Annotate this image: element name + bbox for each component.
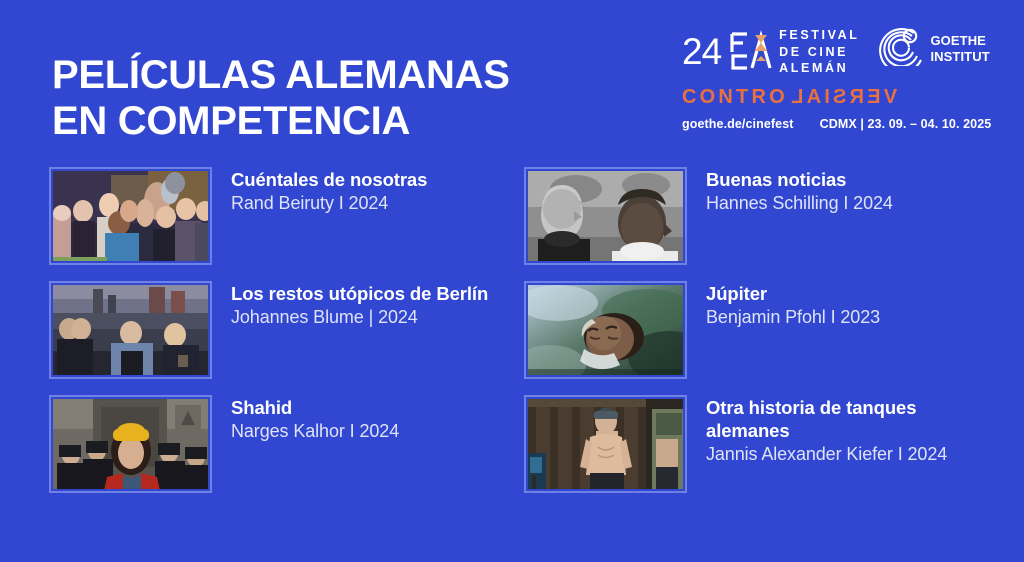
film-credit: Benjamin Pfohl I 2023 (706, 306, 880, 329)
festival-word-line-3: ALEMÁN (779, 60, 859, 77)
festival-logo: 24 FESTIVAL DE CINE (682, 26, 859, 77)
film-entry[interactable]: Buenas noticias Hannes Schilling I 2024 (523, 166, 1000, 266)
film-entry[interactable]: Shahid Narges Kalhor I 2024 (48, 394, 523, 494)
film-thumbnail (523, 394, 688, 494)
festival-wordmark: FESTIVAL DE CINE ALEMÁN (779, 26, 859, 77)
page-title-line-1: PELÍCULAS ALEMANAS (52, 52, 522, 98)
festival-edition-number: 24 (682, 33, 721, 70)
goethe-institut-logo: GOETHE INSTITUT (879, 26, 989, 71)
film-credit: Hannes Schilling I 2024 (706, 192, 893, 215)
brand-meta-row: goethe.de/cinefest CDMX | 23. 09. – 04. … (682, 117, 1002, 131)
film-title: Buenas noticias (706, 168, 893, 191)
website-link[interactable]: goethe.de/cinefest (682, 117, 794, 131)
film-meta: Otra historia de tanques alemanes Jannis… (706, 394, 1000, 467)
film-credit: Narges Kalhor I 2024 (231, 420, 399, 443)
film-meta: Cuéntales de nosotras Rand Beiruty I 202… (231, 166, 427, 216)
presentation-slide: PELÍCULAS ALEMANAS EN COMPETENCIA 24 (0, 0, 1024, 562)
film-meta: Buenas noticias Hannes Schilling I 2024 (706, 166, 893, 216)
film-meta: Shahid Narges Kalhor I 2024 (231, 394, 399, 444)
controversial-tagline: CONTRO VERSIAL (682, 86, 1002, 109)
film-credit: Jannis Alexander Kiefer I 2024 (706, 443, 1000, 466)
film-title: Otra historia de tanques alemanes (706, 396, 1000, 442)
film-title: Cuéntales de nosotras (231, 168, 427, 191)
goethe-wordmark: GOETHE INSTITUT (930, 33, 989, 64)
festival-dates: CDMX | 23. 09. – 04. 10. 2025 (820, 117, 992, 131)
goethe-spiral-icon (879, 26, 923, 71)
film-thumbnail (48, 280, 213, 380)
goethe-word-line-1: GOETHE (930, 33, 989, 48)
film-meta: Júpiter Benjamin Pfohl I 2023 (706, 280, 880, 330)
page-title: PELÍCULAS ALEMANAS EN COMPETENCIA (52, 52, 522, 145)
page-title-line-2: EN COMPETENCIA (52, 98, 522, 144)
film-title: Los restos utópicos de Berlín (231, 282, 488, 305)
film-column-left: Cuéntales de nosotras Rand Beiruty I 202… (48, 166, 523, 508)
film-entry[interactable]: Otra historia de tanques alemanes Jannis… (523, 394, 1000, 494)
film-credit: Johannes Blume | 2024 (231, 306, 488, 329)
tagline-mirrored-part: VERSIAL (788, 86, 897, 109)
film-thumbnail (523, 166, 688, 266)
festival-word-line-1: FESTIVAL (779, 27, 859, 44)
tagline-normal-part: CONTRO (682, 86, 788, 109)
film-thumbnail (48, 166, 213, 266)
logo-row: 24 FESTIVAL DE CINE (682, 26, 1002, 77)
film-entry[interactable]: Los restos utópicos de Berlín Johannes B… (48, 280, 523, 380)
film-credit: Rand Beiruty I 2024 (231, 192, 427, 215)
film-entry[interactable]: Cuéntales de nosotras Rand Beiruty I 202… (48, 166, 523, 266)
festival-word-line-2: DE CINE (779, 44, 859, 61)
branding-block: 24 FESTIVAL DE CINE (682, 26, 1002, 131)
film-grid: Cuéntales de nosotras Rand Beiruty I 202… (48, 166, 1000, 508)
film-entry[interactable]: Júpiter Benjamin Pfohl I 2023 (523, 280, 1000, 380)
film-title: Júpiter (706, 282, 880, 305)
goethe-word-line-2: INSTITUT (930, 49, 989, 64)
film-meta: Los restos utópicos de Berlín Johannes B… (231, 280, 488, 330)
film-title: Shahid (231, 396, 399, 419)
film-column-right: Buenas noticias Hannes Schilling I 2024 (523, 166, 1000, 508)
fca-monogram-icon (728, 30, 772, 72)
film-thumbnail (523, 280, 688, 380)
film-thumbnail (48, 394, 213, 494)
